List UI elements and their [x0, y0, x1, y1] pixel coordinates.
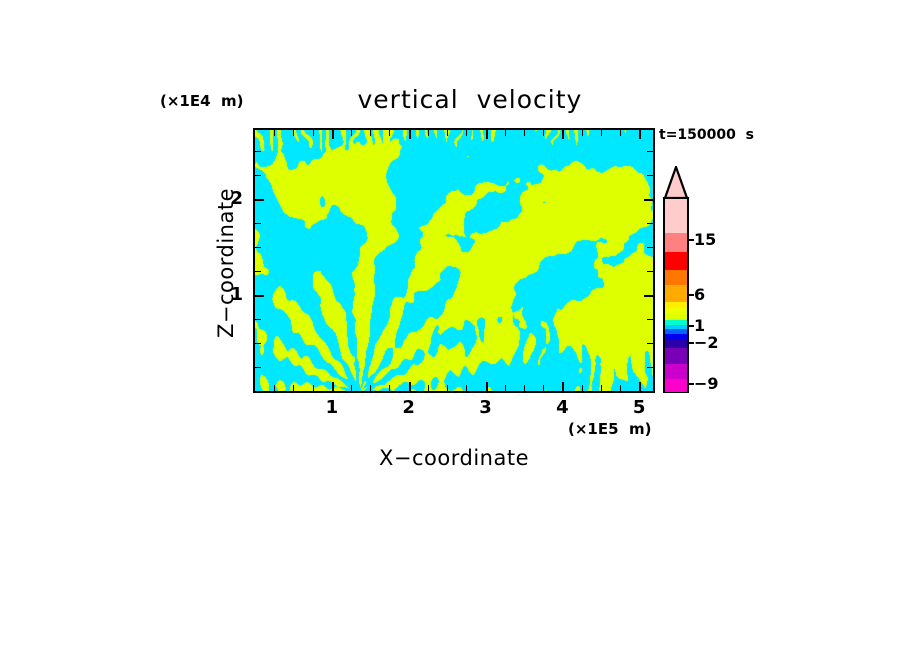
x-minor-tick-top [351, 130, 352, 136]
colorbar-segment [665, 270, 687, 285]
colorbar-tick [689, 239, 694, 241]
x-axis-title: X−coordinate [253, 446, 655, 470]
x-major-tick-top [332, 130, 334, 139]
colorbar-tick-label: −2 [694, 333, 719, 352]
colorbar-tick-label: 6 [694, 285, 705, 304]
x-minor-tick [582, 385, 583, 391]
y-minor-tick-right [647, 343, 653, 344]
colorbar-tick-label: −9 [694, 374, 719, 393]
colorbar-arrow-icon [663, 166, 689, 199]
x-minor-tick-top [582, 130, 583, 136]
colorbar-tick [689, 342, 694, 344]
chart-title-text: vertical velocity [357, 85, 582, 114]
x-minor-tick-top [428, 130, 429, 136]
colorbar-segment [665, 379, 687, 392]
x-minor-tick [505, 385, 506, 391]
x-minor-tick-top [505, 130, 506, 136]
y-minor-tick-right [647, 271, 653, 272]
x-minor-tick [447, 385, 448, 391]
x-minor-tick-top [524, 130, 525, 136]
x-major-tick-top [562, 130, 564, 139]
x-minor-tick [601, 385, 602, 391]
x-minor-tick [370, 385, 371, 391]
y-major-tick [255, 295, 264, 297]
x-major-tick [332, 382, 334, 391]
x-tick-label: 1 [312, 397, 352, 418]
y-minor-tick [255, 247, 261, 248]
y-minor-tick-right [647, 319, 653, 320]
x-minor-tick-top [313, 130, 314, 136]
x-major-tick-top [409, 130, 411, 139]
x-minor-tick-top [466, 130, 467, 136]
x-minor-tick-top [620, 130, 621, 136]
x-minor-tick-top [543, 130, 544, 136]
y-minor-tick [255, 367, 261, 368]
y-minor-tick [255, 223, 261, 224]
x-tick-label: 3 [466, 397, 506, 418]
x-axis-unit-label: (×1E5 m) [568, 420, 651, 438]
y-major-tick-right [644, 295, 653, 297]
x-minor-tick [428, 385, 429, 391]
x-minor-tick [313, 385, 314, 391]
colorbar-segment [665, 199, 687, 234]
x-tick-label: 5 [619, 397, 659, 418]
x-minor-tick [620, 385, 621, 391]
colorbar-segment [665, 348, 687, 364]
y-major-tick-right [644, 199, 653, 201]
colorbar-segment [665, 233, 687, 252]
x-major-tick-top [639, 130, 641, 139]
colorbar-segment [665, 252, 687, 271]
x-minor-tick [543, 385, 544, 391]
y-axis-title: Z−coordinate [214, 188, 238, 338]
x-minor-tick-top [370, 130, 371, 136]
y-minor-tick-right [647, 367, 653, 368]
x-minor-tick-top [389, 130, 390, 136]
colorbar-tick [689, 383, 694, 385]
y-minor-tick [255, 151, 261, 152]
colorbar-tick-label: 15 [694, 230, 716, 249]
y-minor-tick [255, 343, 261, 344]
x-major-tick [409, 382, 411, 391]
x-minor-tick [274, 385, 275, 391]
x-minor-tick [293, 385, 294, 391]
x-minor-tick [389, 385, 390, 391]
contour-field [255, 130, 653, 391]
y-axis-unit-label: (×1E4 m) [160, 92, 243, 110]
x-minor-tick [351, 385, 352, 391]
x-minor-tick-top [601, 130, 602, 136]
x-minor-tick-top [447, 130, 448, 136]
colorbar[interactable] [663, 197, 689, 393]
x-major-tick [562, 382, 564, 391]
y-minor-tick [255, 175, 261, 176]
y-minor-tick-right [647, 223, 653, 224]
x-major-tick [639, 382, 641, 391]
contour-plot-area[interactable] [253, 128, 655, 393]
colorbar-tick [689, 325, 694, 327]
x-tick-label: 2 [389, 397, 429, 418]
x-major-tick [486, 382, 488, 391]
x-minor-tick-top [293, 130, 294, 136]
figure-canvas: vertical velocity (×1E4 m) t=150000 s 12… [0, 0, 904, 654]
y-major-tick [255, 199, 264, 201]
colorbar-segment [665, 285, 687, 303]
x-tick-label: 4 [542, 397, 582, 418]
y-minor-tick-right [647, 175, 653, 176]
colorbar-over-arrow [663, 166, 689, 199]
x-major-tick-top [486, 130, 488, 139]
timestamp-label: t=150000 s [659, 127, 754, 143]
x-minor-tick-top [274, 130, 275, 136]
colorbar-segment [665, 364, 687, 380]
y-minor-tick-right [647, 247, 653, 248]
y-minor-tick [255, 271, 261, 272]
x-minor-tick [524, 385, 525, 391]
y-minor-tick-right [647, 151, 653, 152]
y-minor-tick [255, 319, 261, 320]
colorbar-tick [689, 294, 694, 296]
x-minor-tick [466, 385, 467, 391]
